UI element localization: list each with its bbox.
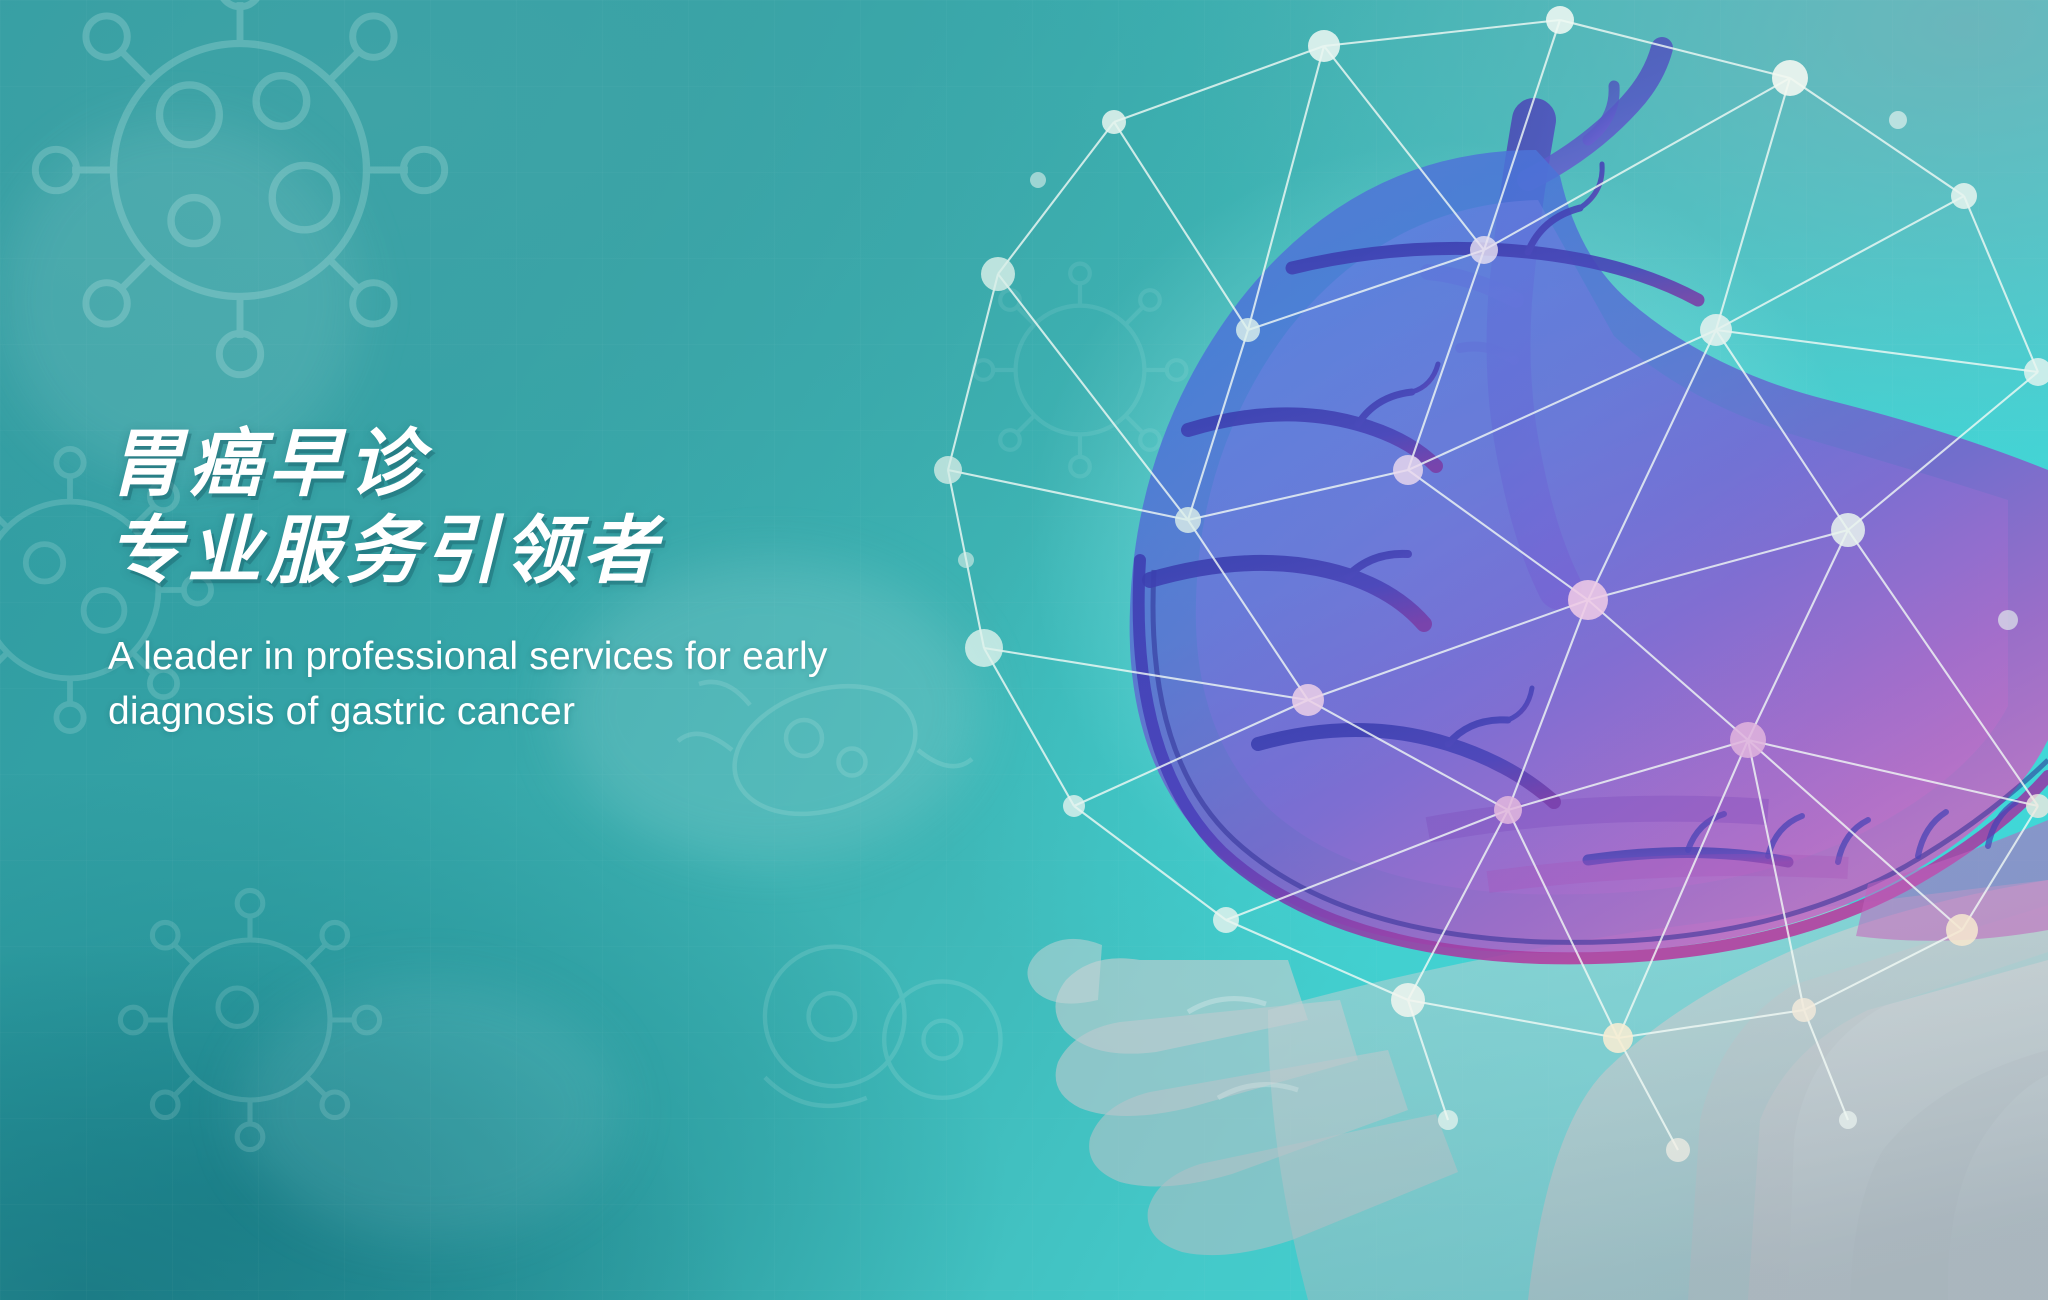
page-subtitle: A leader in professional services for ea…	[108, 629, 1108, 740]
headline-line-1: 胃癌早诊	[108, 420, 1128, 507]
headline-line-2: 专业服务引领者	[108, 507, 1128, 594]
subtitle-line-1: A leader in professional services for ea…	[108, 629, 1108, 684]
hero-copy: 胃癌早诊 专业服务引领者 A leader in professional se…	[108, 420, 1128, 739]
hero-banner: 胃癌早诊 专业服务引领者 A leader in professional se…	[0, 0, 2048, 1300]
subtitle-line-2: diagnosis of gastric cancer	[108, 684, 1108, 739]
coronavirus-icon-top-left	[10, 0, 470, 400]
coronavirus-icon-bottom-left	[90, 860, 410, 1180]
page-title: 胃癌早诊 专业服务引领者	[108, 420, 1128, 595]
